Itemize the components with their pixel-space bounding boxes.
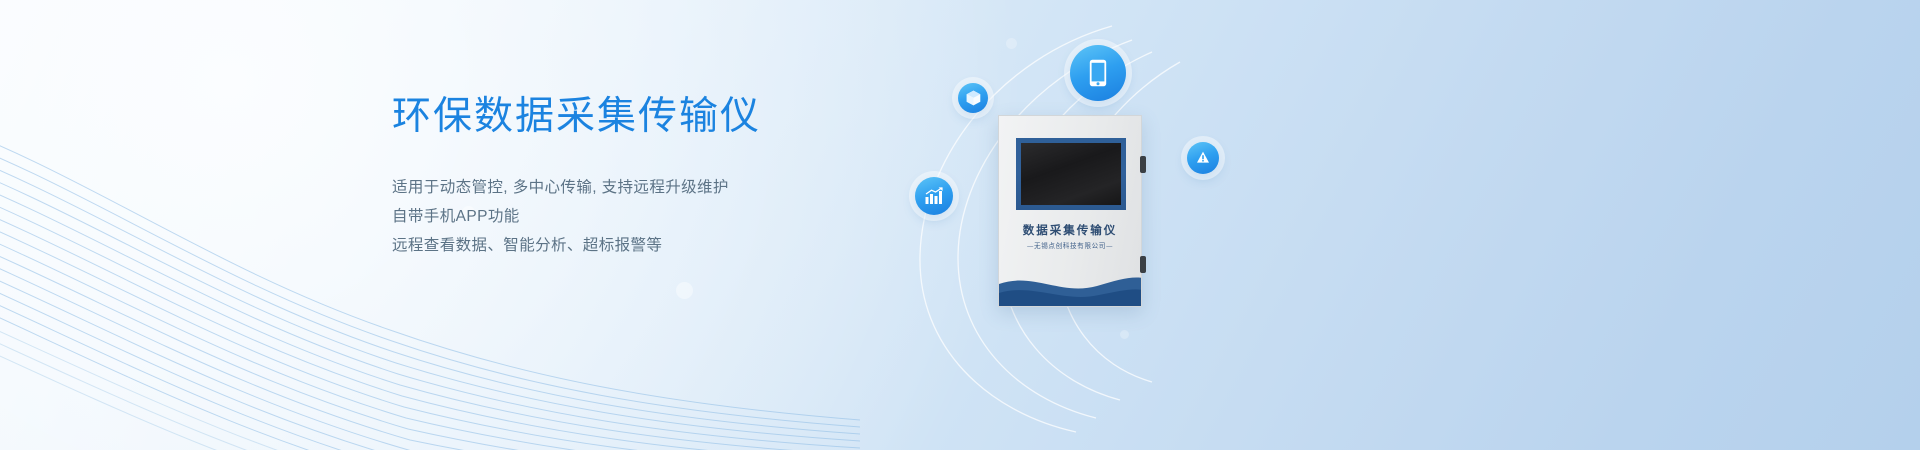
floating-icon-chart[interactable] bbox=[915, 177, 953, 215]
mobile-phone-icon bbox=[1089, 59, 1107, 87]
hero-illustration: 数据采集传输仪 —无锡点创科技有限公司— bbox=[880, 0, 1440, 450]
device-screen-bezel bbox=[1016, 138, 1126, 210]
data-acquisition-device: 数据采集传输仪 —无锡点创科技有限公司— bbox=[998, 115, 1142, 307]
device-hinge-top bbox=[1140, 156, 1146, 173]
hero-banner: 环保数据采集传输仪 适用于动态管控, 多中心传输, 支持远程升级维护 自带手机A… bbox=[0, 0, 1920, 450]
cube-box-icon bbox=[966, 90, 981, 106]
device-footer-graphic bbox=[999, 266, 1141, 306]
device-company-name: —无锡点创科技有限公司— bbox=[999, 240, 1141, 250]
subtitle-line-3: 远程查看数据、智能分析、超标报警等 bbox=[392, 231, 912, 260]
bar-chart-growth-icon bbox=[925, 187, 944, 205]
bokeh-circle bbox=[676, 282, 693, 299]
orbit-arcs bbox=[880, 0, 1440, 450]
subtitle-line-1: 适用于动态管控, 多中心传输, 支持远程升级维护 bbox=[392, 173, 912, 202]
floating-icon-phone[interactable] bbox=[1070, 45, 1126, 101]
subtitle-line-2: 自带手机APP功能 bbox=[392, 202, 912, 231]
subtitle-list: 适用于动态管控, 多中心传输, 支持远程升级维护 自带手机APP功能 远程查看数… bbox=[392, 173, 912, 260]
floating-icon-alarm[interactable] bbox=[1187, 142, 1219, 174]
device-label: 数据采集传输仪 bbox=[999, 222, 1141, 238]
page-title: 环保数据采集传输仪 bbox=[392, 94, 912, 141]
banner-text-block: 环保数据采集传输仪 适用于动态管控, 多中心传输, 支持远程升级维护 自带手机A… bbox=[392, 94, 912, 260]
floating-icon-cube[interactable] bbox=[958, 83, 988, 113]
alarm-bell-icon bbox=[1195, 150, 1211, 166]
device-display bbox=[1021, 143, 1121, 205]
